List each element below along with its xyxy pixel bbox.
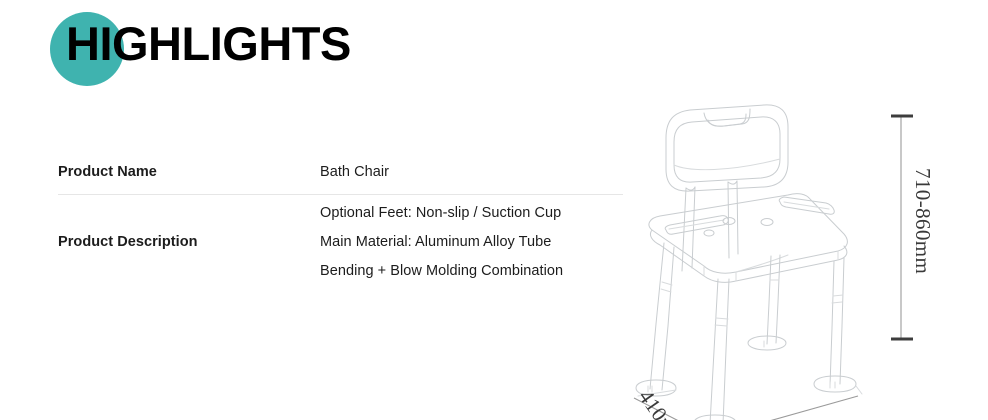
chair-seat [649,194,847,283]
page-header: HIGHLIGHTS [0,0,988,100]
spec-value-product-name: Bath Chair [320,158,623,187]
spec-value-line: Bath Chair [320,158,623,187]
spec-value-line: Optional Feet: Non-slip / Suction Cup [320,199,623,228]
dimension-width-label: 470mm [736,416,806,420]
spec-value-product-description: Optional Feet: Non-slip / Suction Cup Ma… [320,199,623,286]
spec-table: Product Name Bath Chair Product Descript… [58,150,623,290]
table-row: Product Description Optional Feet: Non-s… [58,194,623,290]
spec-label-product-name: Product Name [58,164,320,180]
dimension-height-label: 710-860mm [911,168,935,274]
dimension-depth-label: 410mm [634,385,692,420]
height-dimension [891,116,913,339]
spec-value-line: Main Material: Aluminum Alloy Tube [320,228,623,257]
chair-backrest [666,105,788,191]
spec-label-product-description: Product Description [58,234,320,250]
product-drawing: 710-860mm 410mm 470mm [630,96,988,420]
bath-chair-drawing-svg: 710-860mm 410mm 470mm [630,96,988,420]
spec-value-line: Bending + Blow Molding Combination [320,257,623,286]
page-title: HIGHLIGHTS [66,17,351,71]
table-row: Product Name Bath Chair [58,150,623,194]
